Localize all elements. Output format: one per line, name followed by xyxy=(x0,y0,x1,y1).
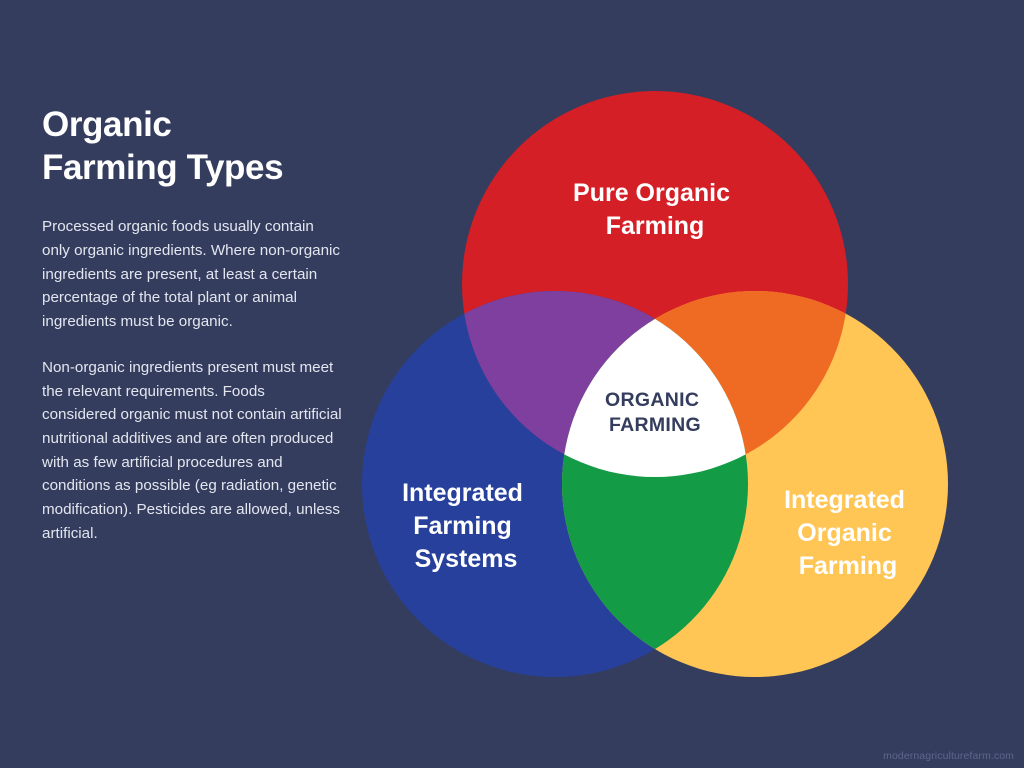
venn-label-line: Pure Organic xyxy=(573,179,730,207)
text-column: Organic Farming Types Processed organic … xyxy=(42,104,342,546)
page-title: Organic Farming Types xyxy=(42,104,342,189)
venn-label-integrated-organic-farming: Integrated Organic Farming xyxy=(784,486,912,580)
venn-label-line: Integrated xyxy=(402,479,523,507)
venn-center-label-line: ORGANIC xyxy=(605,389,699,411)
body-paragraph-2: Non-organic ingredients present must mee… xyxy=(42,356,342,546)
watermark: modernagriculturefarm.com xyxy=(883,750,1014,762)
venn-label-integrated-farming-systems: Integrated Farming Systems xyxy=(402,479,530,573)
venn-svg: Pure Organic Farming Integrated Farming … xyxy=(360,88,960,688)
venn-diagram: Pure Organic Farming Integrated Farming … xyxy=(360,88,960,688)
venn-label-line: Organic xyxy=(797,519,892,547)
venn-label-line: Farming xyxy=(799,552,898,580)
venn-center-label-line: FARMING xyxy=(609,414,701,436)
venn-label-line: Farming xyxy=(413,512,512,540)
venn-label-line: Systems xyxy=(415,545,518,573)
infographic-canvas: Organic Farming Types Processed organic … xyxy=(0,0,1024,768)
body-paragraph-1: Processed organic foods usually contain … xyxy=(42,215,342,334)
venn-label-line: Integrated xyxy=(784,486,905,514)
venn-label-line: Farming xyxy=(606,212,705,240)
